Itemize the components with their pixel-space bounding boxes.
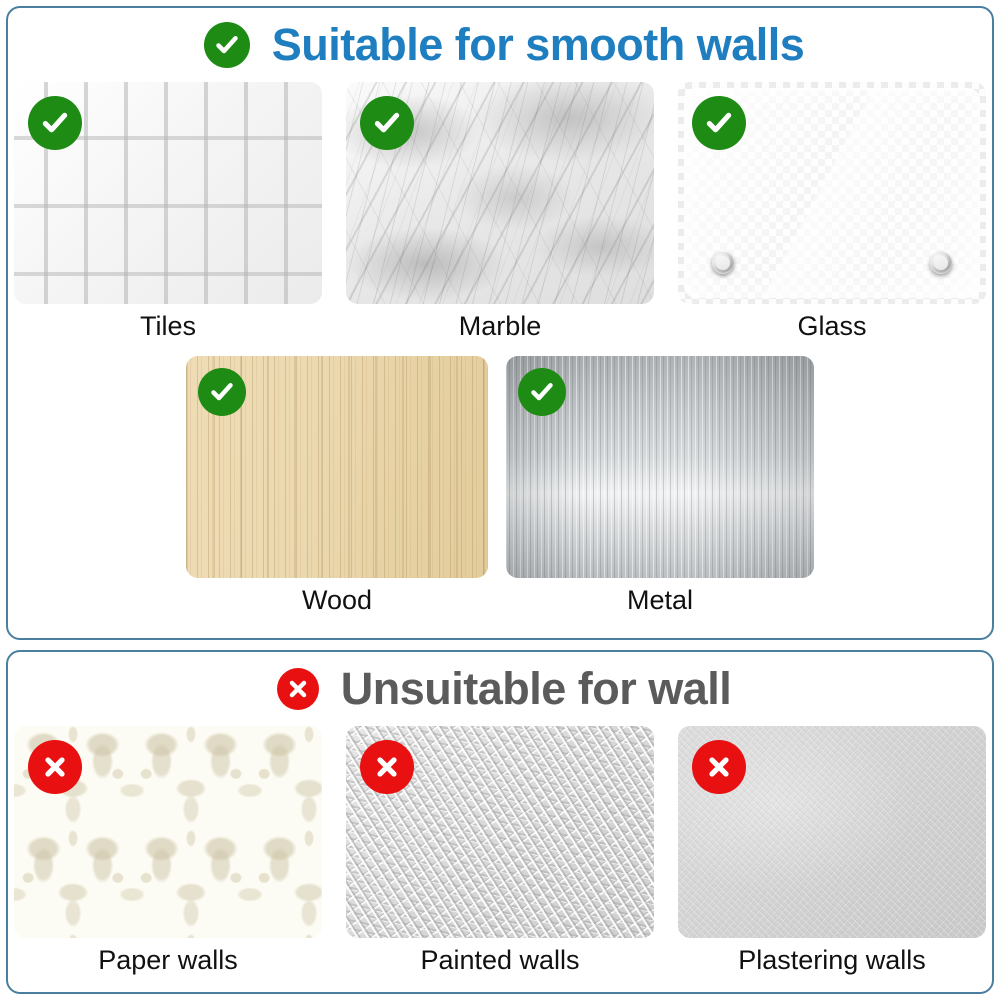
texture-swatch-glass bbox=[678, 82, 986, 304]
suitable-heading-text: Suitable for smooth walls bbox=[272, 19, 805, 71]
texture-swatch-tiles bbox=[14, 82, 322, 304]
material-item-metal: Metal bbox=[506, 356, 814, 616]
check-circle-icon bbox=[198, 368, 246, 416]
texture-swatch-painted bbox=[346, 726, 654, 938]
material-label-plastering-walls: Plastering walls bbox=[738, 945, 926, 976]
cross-circle-icon bbox=[360, 740, 414, 794]
material-item-wood: Wood bbox=[186, 356, 488, 616]
unsuitable-row: Paper walls Painted walls bbox=[8, 726, 992, 976]
material-label-marble: Marble bbox=[459, 311, 542, 342]
material-label-wood: Wood bbox=[302, 585, 372, 616]
texture-swatch-metal bbox=[506, 356, 814, 578]
cross-circle-icon bbox=[277, 668, 319, 710]
glass-standoff-stud-right bbox=[930, 252, 952, 274]
material-item-glass: Glass bbox=[678, 82, 986, 342]
unsuitable-heading-text: Unsuitable for wall bbox=[341, 663, 732, 715]
texture-swatch-wood bbox=[186, 356, 488, 578]
material-item-tiles: Tiles bbox=[14, 82, 322, 342]
suitable-section-card: Suitable for smooth walls Tiles bbox=[6, 6, 994, 640]
check-circle-icon bbox=[360, 96, 414, 150]
material-label-paper-walls: Paper walls bbox=[98, 945, 238, 976]
material-label-tiles: Tiles bbox=[140, 311, 196, 342]
texture-swatch-plaster bbox=[678, 726, 986, 938]
unsuitable-section-card: Unsuitable for wall Paper walls bbox=[6, 650, 994, 994]
material-label-painted-walls: Painted walls bbox=[420, 945, 579, 976]
material-label-glass: Glass bbox=[797, 311, 866, 342]
check-circle-icon bbox=[28, 96, 82, 150]
check-circle-icon bbox=[692, 96, 746, 150]
suitable-row-2: Wood Metal bbox=[8, 356, 992, 616]
cross-circle-icon bbox=[692, 740, 746, 794]
material-item-marble: Marble bbox=[346, 82, 654, 342]
unsuitable-heading: Unsuitable for wall bbox=[8, 652, 992, 726]
check-circle-icon bbox=[518, 368, 566, 416]
material-item-plastering-walls: Plastering walls bbox=[678, 726, 986, 976]
suitable-heading: Suitable for smooth walls bbox=[8, 8, 992, 82]
material-item-paper-walls: Paper walls bbox=[14, 726, 322, 976]
check-circle-icon bbox=[204, 22, 250, 68]
suitable-row-1: Tiles Marble bbox=[8, 82, 992, 342]
texture-swatch-marble bbox=[346, 82, 654, 304]
material-item-painted-walls: Painted walls bbox=[346, 726, 654, 976]
material-label-metal: Metal bbox=[627, 585, 693, 616]
infographic-page: Suitable for smooth walls Tiles bbox=[0, 0, 1000, 1000]
cross-circle-icon bbox=[28, 740, 82, 794]
texture-swatch-paper bbox=[14, 726, 322, 938]
glass-standoff-stud-left bbox=[712, 252, 734, 274]
